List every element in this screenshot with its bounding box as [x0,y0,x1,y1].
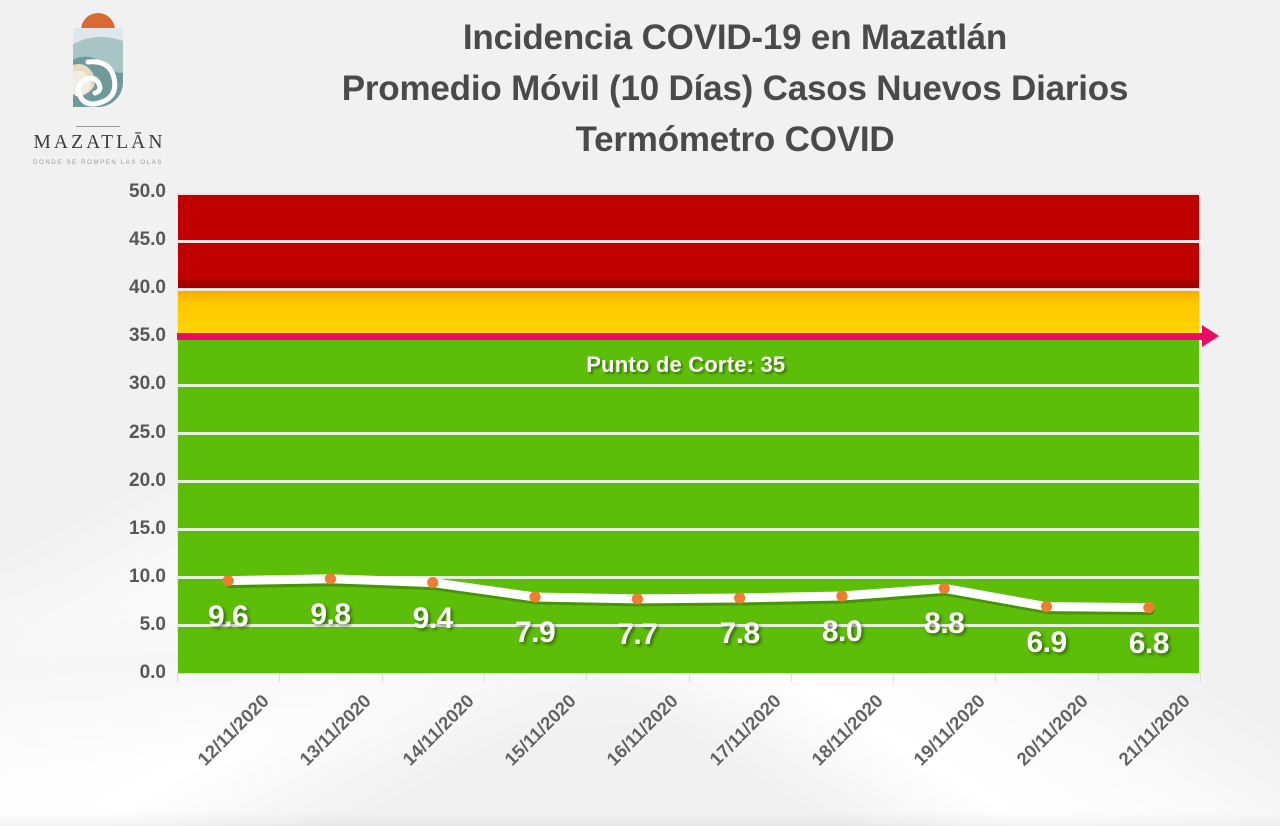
x-axis-tick-6 [791,673,792,682]
y-axis-label-40.0: 40.0 [129,277,166,299]
x-axis-tick-1 [279,673,280,682]
data-point-label: 7.8 [720,617,760,651]
cutoff-line [177,333,1204,340]
data-point-marker[interactable] [632,593,643,604]
data-point-label: 9.6 [208,600,248,634]
x-axis-tick-5 [689,673,690,682]
x-axis-tick-0 [177,673,178,682]
x-axis-tick-4 [586,673,587,682]
data-point-marker[interactable] [427,577,438,588]
data-point-label: 8.8 [924,607,964,641]
data-point-marker[interactable] [1143,602,1154,613]
y-axis-label-0.0: 0.0 [140,662,166,684]
x-axis-tick-7 [893,673,894,682]
y-axis-label-25.0: 25.0 [129,422,166,444]
y-axis-label-35.0: 35.0 [129,325,166,347]
y-axis-label-50.0: 50.0 [129,181,166,203]
data-point-marker[interactable] [836,590,847,601]
y-axis-label-30.0: 30.0 [129,373,166,395]
y-axis-label-5.0: 5.0 [140,614,166,636]
y-axis-label-45.0: 45.0 [129,229,166,251]
data-point-label: 9.4 [413,602,453,636]
y-axis-label-15.0: 15.0 [129,518,166,540]
data-point-label: 6.8 [1129,627,1169,661]
data-point-marker[interactable] [223,575,234,586]
cutoff-arrow-icon [1202,325,1219,347]
data-point-label: 8.0 [822,615,862,649]
y-axis-label-20.0: 20.0 [129,470,166,492]
data-point-marker[interactable] [325,573,336,584]
data-point-label: 9.8 [310,598,350,632]
cutoff-label: Punto de Corte: 35 [586,352,785,378]
data-point-label: 7.9 [515,616,555,650]
data-point-label: 7.7 [617,618,657,652]
x-axis-tick-end [1200,673,1201,682]
x-axis-tick-8 [995,673,996,682]
x-axis-tick-3 [484,673,485,682]
data-point-marker[interactable] [939,583,950,594]
data-point-marker[interactable] [529,591,540,602]
data-point-marker[interactable] [1041,601,1052,612]
data-point-marker[interactable] [734,592,745,603]
slide-canvas: MAZATLĀN DONDE SE ROMPEN LAS OLAS Incide… [0,0,1280,826]
y-axis-label-10.0: 10.0 [129,566,166,588]
data-point-label: 6.9 [1026,626,1066,660]
x-axis-tick-9 [1098,673,1099,682]
x-axis-tick-2 [382,673,383,682]
